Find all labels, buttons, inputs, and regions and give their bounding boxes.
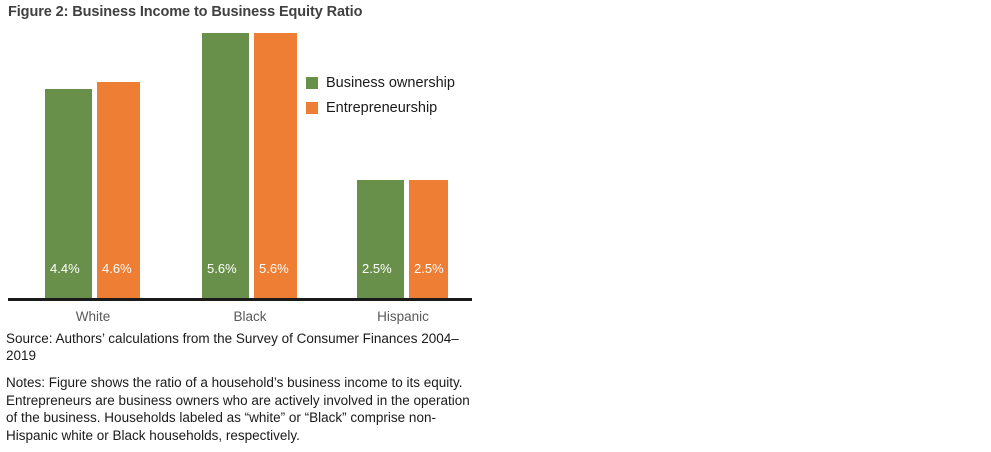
legend-swatch-icon [306, 102, 318, 114]
bar-value-label: 2.5% [362, 261, 392, 276]
bar-hispanic-entrepreneurship: 2.5% [409, 180, 448, 298]
bar-value-label: 5.6% [259, 261, 289, 276]
x-axis-label-white: White [38, 309, 148, 324]
bar-value-label: 4.6% [102, 261, 132, 276]
x-axis-label-black: Black [195, 309, 305, 324]
bar-value-label: 5.6% [207, 261, 237, 276]
legend-item-business-ownership: Business ownership [306, 70, 455, 95]
chart-legend: Business ownership Entrepreneurship [306, 70, 455, 120]
bar-value-label: 4.4% [50, 261, 80, 276]
legend-item-entrepreneurship: Entrepreneurship [306, 95, 455, 120]
bar-hispanic-business-ownership: 2.5% [357, 180, 404, 298]
x-axis-line [8, 298, 472, 301]
legend-label: Business ownership [326, 75, 455, 91]
bar-black-business-ownership: 5.6% [202, 33, 249, 298]
chart-plot-area: 4.4% 4.6% 5.6% 5.6% 2.5% 2.5% White Blac… [0, 0, 500, 300]
legend-swatch-icon [306, 77, 318, 89]
x-axis-label-hispanic: Hispanic [348, 309, 458, 324]
figure-notes: Notes: Figure shows the ratio of a house… [6, 374, 476, 444]
bar-white-entrepreneurship: 4.6% [97, 82, 140, 298]
bar-white-business-ownership: 4.4% [45, 89, 92, 298]
bar-black-entrepreneurship: 5.6% [254, 33, 297, 298]
legend-label: Entrepreneurship [326, 100, 437, 116]
bar-value-label: 2.5% [414, 261, 444, 276]
figure-container: Figure 2: Business Income to Business Eq… [0, 0, 991, 452]
source-note: Source: Authors’ calculations from the S… [6, 330, 476, 364]
